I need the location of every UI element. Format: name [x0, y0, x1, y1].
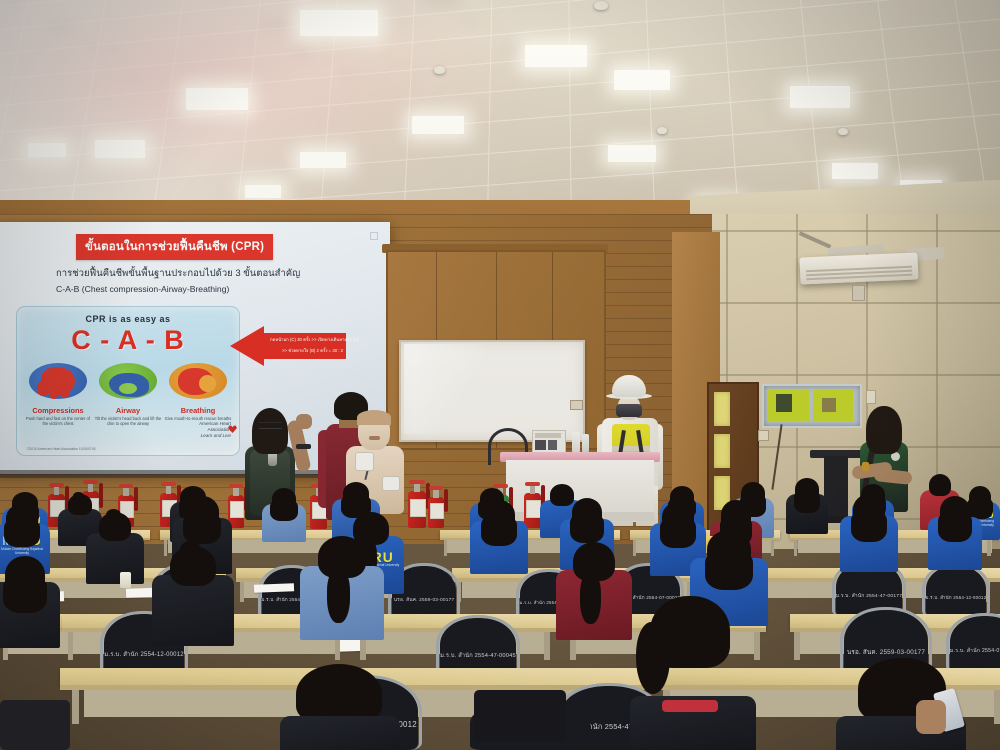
extinguisher-handle [49, 483, 63, 487]
student [86, 512, 144, 584]
fire-extinguisher [408, 480, 426, 528]
bag [0, 700, 70, 750]
chair[interactable]: ม.ร.บ. สำนัก 2554-12-00012 [926, 566, 986, 616]
shirt-subtext: Muban Chombueng Rajabhat University [0, 547, 50, 555]
long-hair [4, 519, 39, 547]
long-hair [938, 512, 972, 542]
aed-pad [382, 476, 400, 491]
whiteboard-glare [404, 344, 484, 434]
ceiling-light [614, 70, 670, 90]
chair-asset-tag: นรอ. สันค. 2559-03-00177 [847, 647, 925, 657]
desk-leg [987, 540, 990, 556]
tile-grout [712, 230, 1000, 232]
chair-frame [922, 563, 990, 616]
student [470, 500, 528, 574]
cup [120, 572, 131, 588]
long-hair [794, 490, 820, 512]
ponytail [580, 573, 600, 624]
cab-headline: CPR is as easy as [17, 314, 239, 324]
aha-credit: American Heart Association Learn and Liv… [199, 421, 231, 439]
chair-asset-tag: ม.ร.บ. สำนัก 2554-12-00012 [926, 594, 987, 601]
student [556, 542, 632, 640]
chair-asset-tag: นรอ. สันค. 2559-03-00177 [394, 596, 455, 604]
ceiling-light [412, 116, 464, 134]
step-label-compressions: Compressions Push hard and fast on the c… [24, 406, 92, 426]
step-label-breathing: Breathing Give mouth-to-mouth rescue bre… [164, 406, 232, 421]
wall-outlet [570, 400, 583, 410]
slide-title: ขั้นตอนในการช่วยฟื้นคืนชีพ (CPR) [76, 234, 273, 260]
extinguisher-label [526, 500, 541, 518]
desk-leg [754, 632, 760, 660]
respirator-mask-icon [616, 404, 642, 417]
student-hair [929, 474, 951, 496]
arrow-text-line1: กดหน้าอก (C) 30 ครั้ง >> เปิดทางเดินหายใ… [270, 336, 359, 343]
chair-asset-tag: ม.ร.บ. สำนัก 2554-12-00012 [104, 649, 184, 659]
chair-asset-tag: ม.ร.บ. สำนัก 2554-07-00017 [950, 647, 1000, 655]
breathing-icon [169, 363, 227, 399]
tile-grout [712, 302, 1000, 304]
chair-asset-tag: ม.ร.บ. สำนัก 2554-47-00177 [836, 592, 902, 600]
bottle [582, 434, 589, 452]
lanyard [662, 700, 718, 712]
presenter-hand [296, 414, 312, 429]
long-hair [851, 511, 887, 542]
hand [916, 700, 946, 734]
extinguisher-handle [229, 484, 242, 488]
desk-leg [68, 632, 74, 660]
slide-subtitle-thai: การช่วยฟื้นคืนชีพขั้นพื้นฐานประกอบไปด้วย… [56, 266, 300, 281]
extinguisher-handle [119, 484, 132, 488]
cpr-manikin-hair [357, 410, 391, 425]
slide-subtitle-english: C-A-B (Chest compression-Airway-Breathin… [56, 284, 229, 294]
bottle [572, 432, 580, 452]
long-hair [570, 514, 604, 543]
wrist-band [862, 462, 869, 471]
interior-window [762, 384, 862, 428]
ceiling-light [300, 10, 378, 36]
chair-asset-tag: ม.ร.บ. สำนัก 2554-47-00045 [440, 650, 516, 660]
smoke-detector [838, 128, 848, 135]
long-hair [636, 622, 670, 694]
ceiling-light [608, 145, 656, 162]
extinguisher-neck [88, 484, 93, 492]
wall-outlet-lower [758, 430, 769, 441]
ceiling-light [525, 45, 587, 67]
ceiling-light [790, 86, 850, 108]
instructor-right-hair [866, 406, 902, 454]
arrow-text-line2: >> ช่วยหายใจ (B) 2 ครั้ง = 30 : 2 [282, 347, 343, 354]
extinguisher-neck [433, 490, 438, 498]
presenter-hair [252, 408, 288, 454]
long-hair [270, 500, 298, 522]
student [152, 546, 234, 646]
desk-leg [771, 540, 774, 556]
extinguisher-label [410, 499, 426, 517]
extinguisher-label [230, 501, 244, 518]
compressions-icon [29, 363, 87, 399]
long-hair [183, 513, 221, 544]
ac-control-box [852, 285, 865, 301]
red-arrow-callout: กดหน้าอก (C) 30 ครั้ง >> เปิดทางเดินหายใ… [230, 326, 346, 366]
ceiling-light [300, 152, 346, 168]
extinguisher-handle [429, 486, 442, 490]
desk-leg [544, 632, 550, 660]
extinguisher-handle [83, 480, 97, 484]
student [262, 488, 306, 542]
step-label-airway: Airway Tilt the victim's head back and l… [94, 406, 162, 426]
desk-leg [633, 540, 636, 556]
eyeglasses-icon [259, 422, 282, 429]
student-hair [296, 664, 382, 724]
desk-leg [240, 582, 244, 602]
slide-corner-marker [370, 232, 378, 240]
student-foreground [636, 596, 746, 750]
extinguisher-hose [134, 487, 138, 511]
ceiling-light [245, 185, 281, 198]
extinguisher-hose [444, 489, 448, 512]
extinguisher-neck [414, 484, 420, 492]
wood-plank [0, 214, 716, 215]
classroom-photo: ขั้นตอนในการช่วยฟื้นคืนชีพ (CPR) การช่วย… [0, 0, 1000, 750]
student [928, 496, 982, 570]
chair-frame [436, 615, 520, 676]
extinguisher-neck [530, 486, 535, 494]
hair-bun [106, 509, 121, 521]
ceiling-light [28, 143, 66, 157]
student [0, 556, 60, 648]
slide-copyright: ©2010 American Heart Association 10/10/0… [27, 447, 95, 451]
airway-icon [99, 363, 157, 399]
extinguisher-label [430, 503, 444, 519]
long-hair [705, 551, 754, 589]
cab-infographic: CPR is as easy as C - A - B C [16, 306, 240, 456]
smoke-detector [657, 127, 667, 134]
extinguisher-handle [525, 482, 539, 486]
desk-leg [72, 690, 79, 724]
paper-sheet [254, 583, 294, 592]
student [300, 536, 384, 640]
extinguisher-handle [409, 480, 424, 484]
desk-leg [994, 690, 1000, 724]
student [786, 478, 828, 534]
smoke-detector [434, 66, 445, 74]
bag [474, 690, 566, 742]
desk-leg [444, 540, 447, 556]
ceiling-light [832, 163, 878, 179]
desk-leg [794, 632, 800, 660]
demo-poster [532, 430, 566, 454]
ceiling-light [95, 140, 145, 158]
student [840, 494, 898, 572]
cpr-manikin-mouth [369, 436, 380, 440]
extinguisher-neck [233, 488, 238, 496]
aed-pad [355, 452, 374, 471]
wristwatch [296, 444, 311, 449]
extinguisher-neck [123, 488, 128, 496]
student-torso [280, 716, 400, 750]
light-switch[interactable] [866, 390, 876, 404]
ceiling-light [186, 88, 248, 110]
arrow-head-icon [230, 326, 264, 366]
student-foreground [280, 664, 400, 750]
ponytail [327, 569, 350, 623]
air-conditioner [799, 252, 918, 284]
tile-grout [712, 374, 1000, 376]
desk-leg [794, 540, 797, 556]
cab-big-letters: C - A - B [17, 325, 239, 356]
long-hair [481, 516, 517, 546]
smoke-detector [594, 1, 608, 10]
long-hair [3, 576, 47, 613]
fire-extinguisher [428, 486, 444, 528]
